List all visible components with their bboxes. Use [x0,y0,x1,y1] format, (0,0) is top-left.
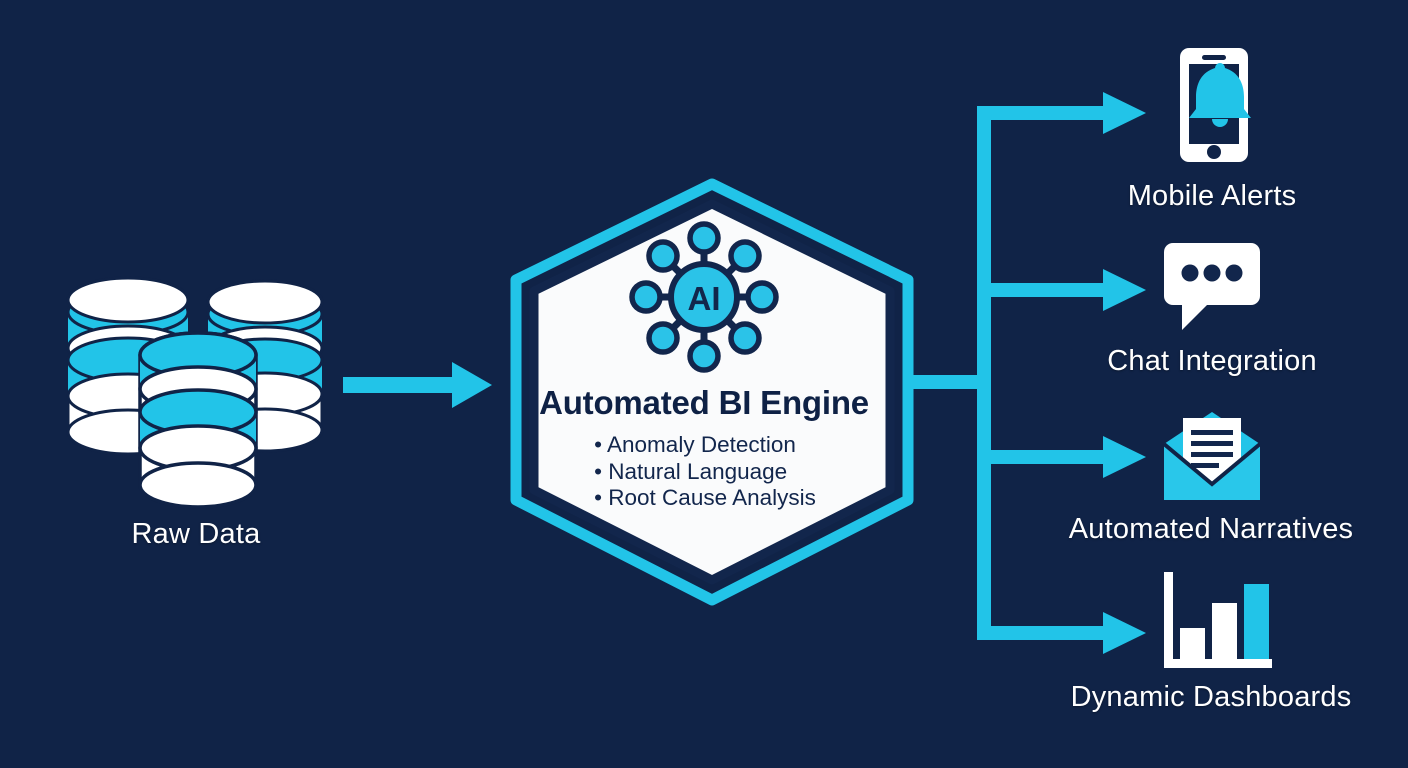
output-icons-layer [0,0,1408,768]
output-label-dynamic-dashboards: Dynamic Dashboards [1071,681,1352,714]
email-envelope-document-icon [1164,412,1260,500]
output-label-chat-integration: Chat Integration [1107,345,1317,378]
chat-bubble-icon [1164,243,1260,330]
diagram-canvas: Raw Data [0,0,1408,768]
output-label-mobile-alerts: Mobile Alerts [1128,180,1297,213]
output-label-automated-narratives: Automated Narratives [1069,513,1353,546]
mobile-phone-bell-icon [1180,48,1251,162]
bar-chart-icon [1164,572,1272,668]
